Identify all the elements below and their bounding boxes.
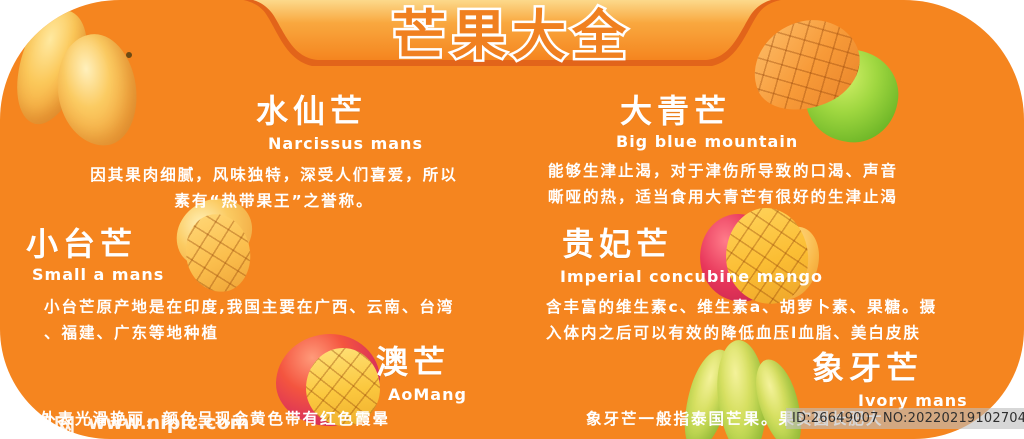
page-title: 芒果大全 xyxy=(0,3,1024,69)
section-description-narcissus: 因其果肉细腻，风味独特，深受人们喜爱，所以 素有“热带果王”之誉称。 xyxy=(54,162,494,214)
watermark-url: www.nipic.com xyxy=(88,412,249,434)
section-subtitle-imperial: Imperial concubine mango xyxy=(560,268,823,286)
cut-mango-shape xyxy=(182,211,254,295)
section-subtitle-aomang: AoMang xyxy=(388,386,467,404)
cut-mango-shape xyxy=(723,205,811,306)
section-description-small-taiwan: 小台芒原产地是在印度,我国主要在广西、云南、台湾 、福建、广东等地种植 xyxy=(44,294,512,346)
section-title-small-taiwan: 小台芒 xyxy=(26,226,137,262)
section-title-imperial: 贵妃芒 xyxy=(562,226,673,262)
section-subtitle-small-taiwan: Small a mans xyxy=(32,266,164,284)
section-title-narcissus: 水仙芒 xyxy=(256,93,367,129)
watermark-id: ID:26649007 NO:20220219102704531107 xyxy=(786,408,1024,429)
section-description-big-blue: 能够生津止渴，对于津伤所导致的口渴、声音 嘶哑的热，适当食用大青芒有很好的生津止… xyxy=(548,158,1014,210)
mango-dice-pattern xyxy=(723,205,811,306)
section-title-aomang: 澳芒 xyxy=(376,344,450,380)
section-title-big-blue: 大青芒 xyxy=(620,93,731,129)
poster-root: 芒果大全 水仙芒 Narcissus mans 因其果肉细腻，风味独特，深受人们… xyxy=(0,0,1024,439)
section-title-ivory: 象牙芒 xyxy=(812,350,923,386)
mango-dice-pattern xyxy=(182,211,254,295)
section-description-imperial: 含丰富的维生素c、维生素a、胡萝卜素、果糖。摄 入体内之后可以有效的降低血压l血… xyxy=(546,294,1016,346)
section-subtitle-big-blue: Big blue mountain xyxy=(616,133,798,151)
section-subtitle-narcissus: Narcissus mans xyxy=(268,135,423,153)
watermark-logo: 昵图网 xyxy=(8,410,77,439)
poster-panel: 芒果大全 水仙芒 Narcissus mans 因其果肉细腻，风味独特，深受人们… xyxy=(0,0,1024,439)
